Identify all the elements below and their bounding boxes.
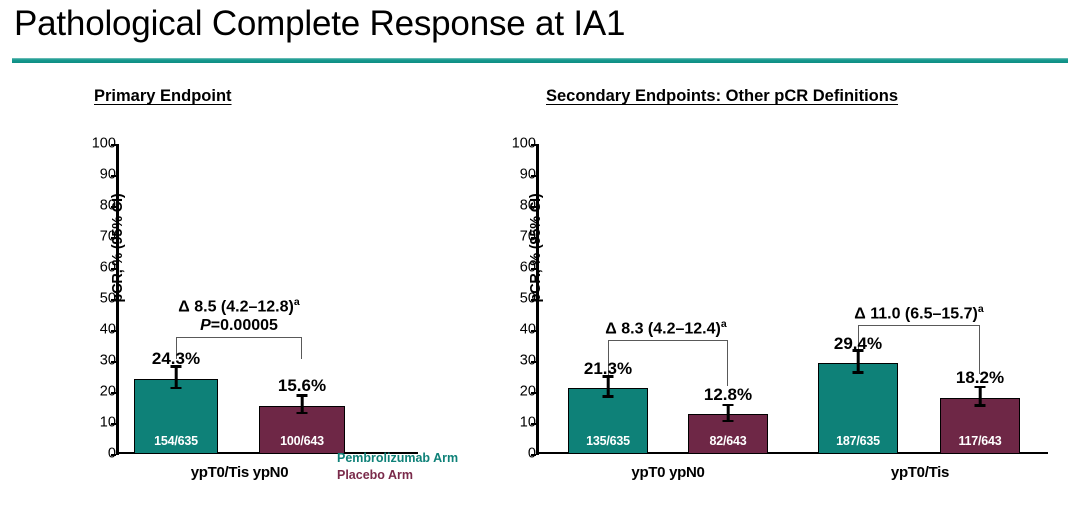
y-tick-label: 20 [520,384,536,400]
primary-pvalue-value: =0.00005 [211,317,278,334]
y-tick-label: 90 [520,167,536,183]
chart-primary-endpoint: pCR, % (95% CI) 100 90 80 70 60 50 40 30… [68,144,418,489]
y-axis-line [116,144,119,455]
sec2-delta-annotation: Δ 11.0 (6.5–15.7)a [804,303,1034,324]
errorbar-cap-bottom [853,371,864,374]
y-tick-label: 50 [520,291,536,307]
sec1-delta-annotation: Δ 8.3 (4.2–12.4)a [558,318,774,339]
errorbar-cap-top [171,365,182,368]
x-category-label-primary: ypT0/Tis ypN0 [134,464,345,481]
errorbar-cap-top [603,375,614,378]
y-tick-label: 80 [520,198,536,214]
y-tick-label: 30 [100,353,116,369]
y-axis-line [536,144,539,455]
primary-delta-text: Δ 8.5 (4.2–12.8) [178,298,294,315]
bar-value-primary-placebo: 15.6% [259,376,345,396]
footnote-marker-a: a [294,296,300,308]
plot-area: 100 90 80 70 60 50 40 30 20 10 0 Δ 8.3 (… [536,144,1048,454]
y-tick-label: 100 [512,136,536,152]
y-tick-label: 100 [92,136,116,152]
plot-area: 100 90 80 70 60 50 40 30 20 10 0 Δ 8.5 (… [116,144,418,454]
primary-pvalue-prefix: P [200,317,211,334]
errorbar-cap-top [297,394,308,397]
bar-fraction-label: 117/643 [941,434,1019,448]
y-tick-label: 30 [520,353,536,369]
y-tick-label: 80 [100,198,116,214]
y-tick-label: 0 [528,446,536,462]
errorbar-cap-bottom [297,412,308,415]
bar-fraction-label: 82/643 [689,434,767,448]
errorbar-cap-top [975,386,986,389]
y-tick-label: 20 [100,384,116,400]
y-tick-label: 10 [100,415,116,431]
y-tick-label: 90 [100,167,116,183]
bar-value-sec1-placebo: 12.8% [688,385,768,405]
y-tick-label: 40 [100,322,116,338]
y-tick-label: 60 [520,260,536,276]
legend-item-placebo: Placebo Arm [337,467,458,484]
bar-fraction-label: 135/635 [569,434,647,448]
y-tick-label: 10 [520,415,536,431]
footnote-marker-a: a [978,303,984,315]
bar-primary-pembrolizumab[interactable]: 154/635 [134,379,218,454]
bar-fraction-label: 154/635 [135,434,217,448]
x-category-label-sec2: ypT0/Tis [820,464,1020,481]
title-underline-rule [12,58,1068,63]
page-title: Pathological Complete Response at IA1 [14,4,625,44]
errorbar-cap-bottom [723,420,734,423]
errorbar-cap-bottom [603,395,614,398]
y-tick-label: 0 [108,446,116,462]
x-category-label-sec1: ypT0 ypN0 [568,464,768,481]
y-tick-label: 40 [520,322,536,338]
y-tick-label: 70 [520,229,536,245]
legend-item-pembrolizumab: Pembrolizumab Arm [337,450,458,467]
y-tick-label: 60 [100,260,116,276]
sec2-delta-text: Δ 11.0 (6.5–15.7) [854,305,978,322]
bar-fraction-label: 100/643 [260,434,344,448]
errorbar-cap-bottom [975,404,986,407]
errorbar-cap-bottom [171,387,182,390]
panel-secondary-subtitle: Secondary Endpoints: Other pCR Definitio… [546,87,898,106]
bar-fraction-label: 187/635 [819,434,897,448]
sec1-delta-text: Δ 8.3 (4.2–12.4) [605,320,721,337]
primary-delta-annotation: Δ 8.5 (4.2–12.8)a P=0.00005 [124,296,354,336]
chart-secondary-endpoints: pCR, % (95% CI) 100 90 80 70 60 50 40 30… [488,144,1048,489]
errorbar-cap-top [853,349,864,352]
y-tick-label: 50 [100,291,116,307]
bar-sec2-pembrolizumab[interactable]: 187/635 [818,363,898,454]
footnote-marker-a: a [721,318,727,330]
panel-primary-subtitle: Primary Endpoint [94,87,232,106]
chart-legend: Pembrolizumab Arm Placebo Arm [337,450,458,483]
y-tick-label: 70 [100,229,116,245]
errorbar-cap-top [723,404,734,407]
